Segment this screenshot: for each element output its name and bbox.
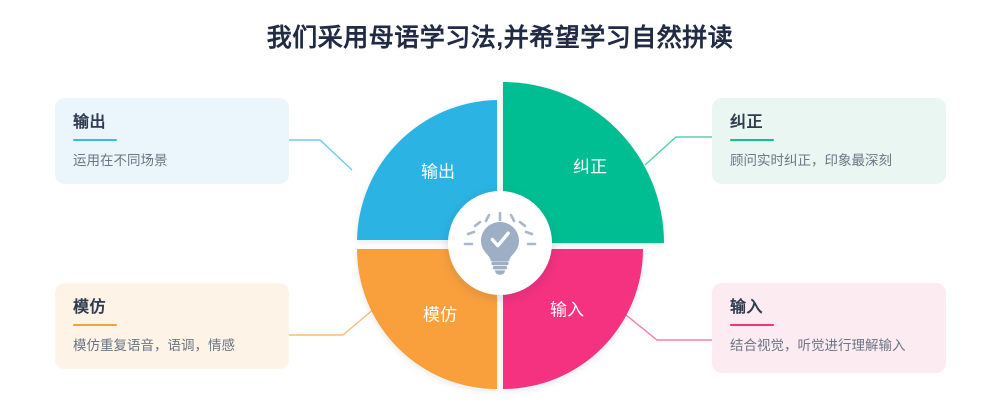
info-card-imitate[interactable]: 模仿 模仿重复语音，语调，情感: [55, 283, 289, 369]
info-card-correct-rule: [730, 139, 774, 141]
wheel-segment-correct-label: 纠正: [573, 157, 607, 176]
info-card-input-description: 结合视觉，听觉进行理解输入: [730, 337, 928, 355]
info-card-output-rule: [73, 139, 117, 141]
info-card-correct[interactable]: 纠正 顾问实时纠正，印象最深刻: [712, 98, 946, 184]
info-card-output-title: 输出: [73, 114, 271, 132]
info-card-imitate-description: 模仿重复语音，语调，情感: [73, 337, 271, 355]
info-card-output-description: 运用在不同场景: [73, 152, 271, 170]
info-card-input[interactable]: 输入 结合视觉，听觉进行理解输入: [712, 283, 946, 373]
info-card-output[interactable]: 输出 运用在不同场景: [55, 98, 289, 184]
info-card-correct-description: 顾问实时纠正，印象最深刻: [730, 152, 928, 170]
wheel-segment-input-label: 输入: [550, 300, 584, 319]
info-card-imitate-title: 模仿: [73, 299, 271, 317]
wheel-segment-output-label: 输出: [421, 162, 455, 181]
info-card-input-rule: [730, 324, 774, 326]
info-card-imitate-rule: [73, 324, 117, 326]
info-card-correct-title: 纠正: [730, 114, 928, 132]
info-card-input-title: 输入: [730, 299, 928, 317]
infographic-canvas: 我们采用母语学习法,并希望学习自然拼读: [0, 0, 1000, 419]
wheel-segment-imitate-label: 模仿: [423, 305, 457, 324]
